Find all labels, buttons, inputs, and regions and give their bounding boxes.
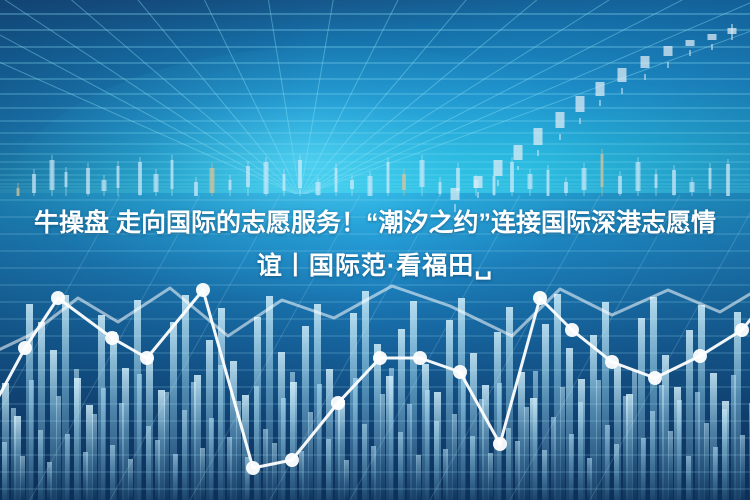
headline-line-1: 牛操盘 走向国际的志愿服务！“潮汐之约”连接国际深港志愿情 bbox=[6, 202, 744, 245]
headline-text: 牛操盘 走向国际的志愿服务！“潮汐之约”连接国际深港志愿情 谊丨国际范·看福田␣ bbox=[0, 202, 750, 288]
banner-image: 牛操盘 走向国际的志愿服务！“潮汐之约”连接国际深港志愿情 谊丨国际范·看福田␣ bbox=[0, 0, 750, 500]
headline-line-2: 谊丨国际范·看福田␣ bbox=[6, 245, 744, 288]
